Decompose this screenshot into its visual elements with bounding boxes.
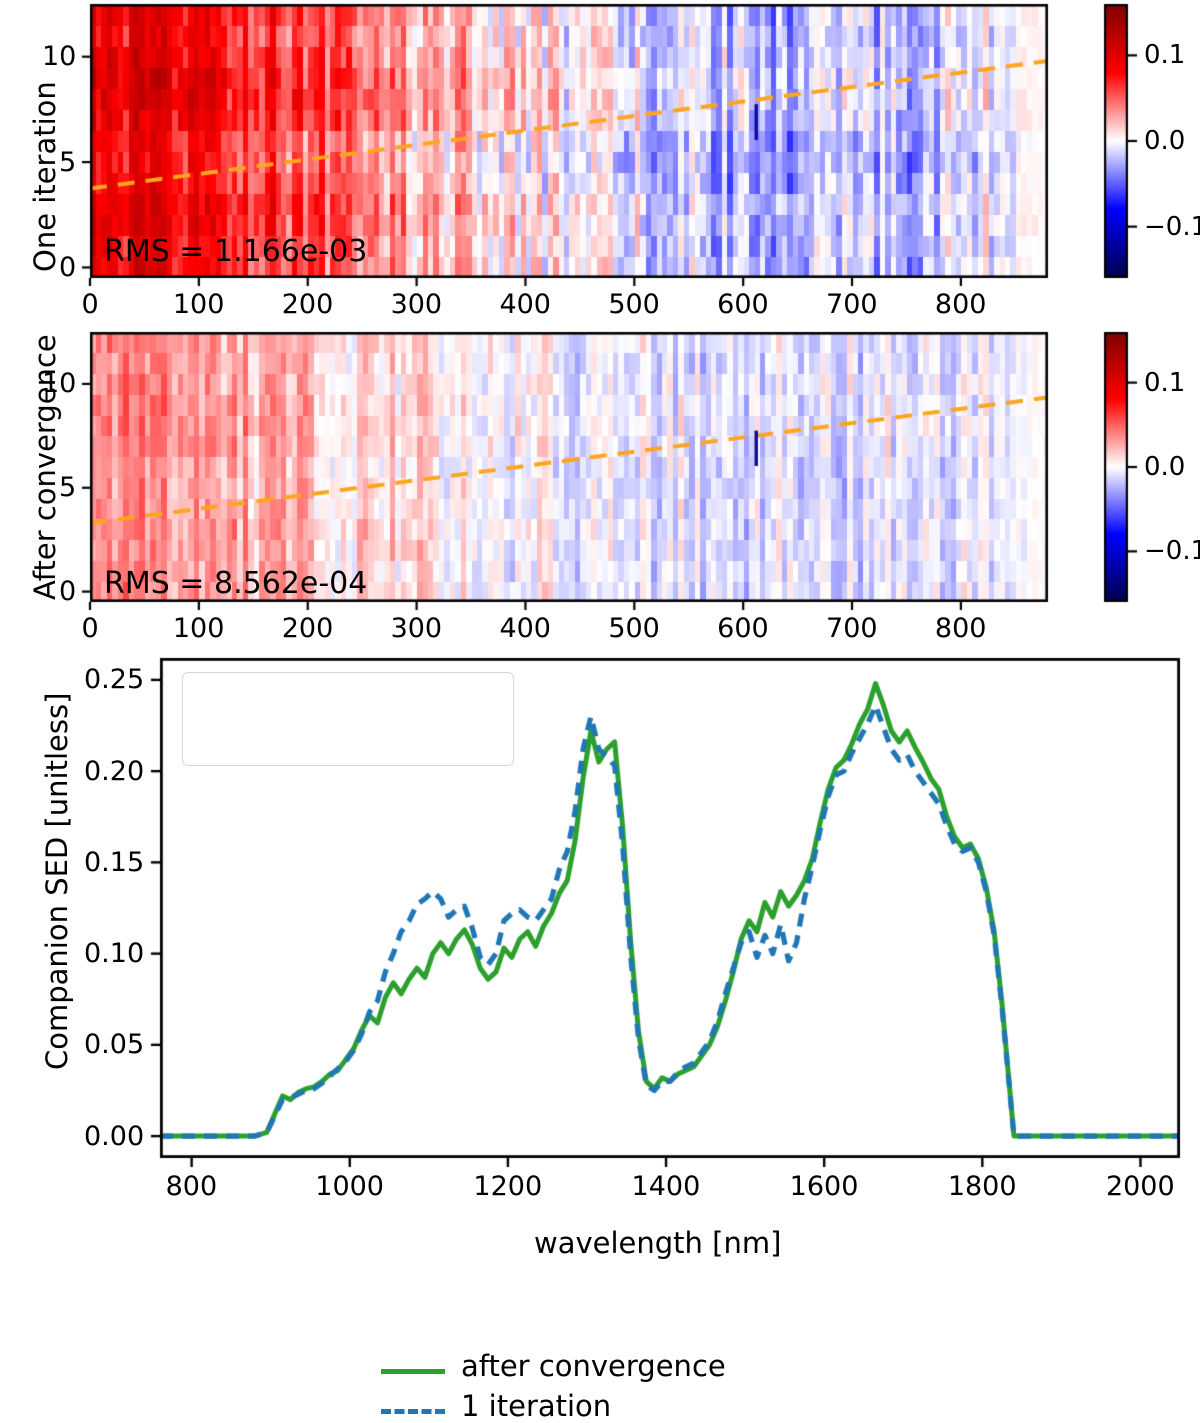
- legend-swatch-one-iteration: [381, 1409, 445, 1414]
- tick-label: 5: [59, 472, 76, 503]
- tick-label: 0.20: [84, 756, 144, 787]
- tick-label: −0.1: [1144, 212, 1200, 242]
- tick-label: 700: [826, 289, 878, 320]
- tick-label: 0: [59, 576, 76, 607]
- tick-label: 0.0: [1144, 126, 1185, 156]
- tick-label: 0.1: [1144, 368, 1185, 398]
- tick-label: −0.1: [1144, 536, 1200, 566]
- legend-label-after-convergence: after convergence: [461, 1349, 726, 1383]
- tick-label: 0: [59, 252, 76, 283]
- tick-label: 5: [59, 147, 76, 178]
- tick-label: 200: [282, 613, 334, 644]
- tick-label: 400: [499, 613, 551, 644]
- legend-swatch-after-convergence: [381, 1369, 445, 1374]
- tick-label: 0.10: [84, 938, 144, 969]
- tick-label: 0.00: [84, 1121, 144, 1152]
- tick-label: 0.25: [84, 664, 144, 695]
- tick-label: 800: [935, 289, 987, 320]
- tick-label: 200: [282, 289, 334, 320]
- tick-label: 600: [717, 289, 769, 320]
- tick-label: 500: [608, 613, 660, 644]
- tick-label: 100: [173, 613, 225, 644]
- tick-label: 0.15: [84, 847, 144, 878]
- panel-bottom-xlabel: wavelength [nm]: [534, 1226, 781, 1260]
- tick-label: 600: [717, 613, 769, 644]
- tick-label: 300: [391, 613, 443, 644]
- tick-label: 1400: [632, 1171, 701, 1202]
- tick-label: 0.1: [1144, 40, 1185, 70]
- tick-label: 500: [608, 289, 660, 320]
- tick-label: 800: [166, 1171, 218, 1202]
- tick-label: 400: [499, 289, 551, 320]
- panel-top-rms-annotation: RMS = 1.166e-03: [104, 234, 367, 269]
- tick-label: 100: [173, 289, 225, 320]
- panel-bottom-ylabel: Companion SED [unitless]: [40, 693, 74, 1070]
- tick-label: 1600: [790, 1171, 859, 1202]
- tick-label: 0: [82, 613, 99, 644]
- tick-label: 0.0: [1144, 452, 1185, 482]
- tick-label: 1000: [315, 1171, 384, 1202]
- tick-label: 0.05: [84, 1029, 144, 1060]
- tick-label: 1800: [948, 1171, 1017, 1202]
- tick-label: 10: [42, 368, 76, 399]
- tick-label: 10: [42, 41, 76, 72]
- panel-middle-rms-annotation: RMS = 8.562e-04: [104, 566, 367, 601]
- legend-label-one-iteration: 1 iteration: [461, 1389, 611, 1423]
- tick-label: 300: [391, 289, 443, 320]
- panel-top-ylabel: One iteration: [28, 81, 62, 272]
- tick-label: 1200: [473, 1171, 542, 1202]
- sed-legend: after convergence 1 iteration: [182, 672, 514, 766]
- tick-label: 700: [826, 613, 878, 644]
- tick-label: 800: [935, 613, 987, 644]
- tick-label: 2000: [1106, 1171, 1175, 1202]
- tick-label: 0: [82, 289, 99, 320]
